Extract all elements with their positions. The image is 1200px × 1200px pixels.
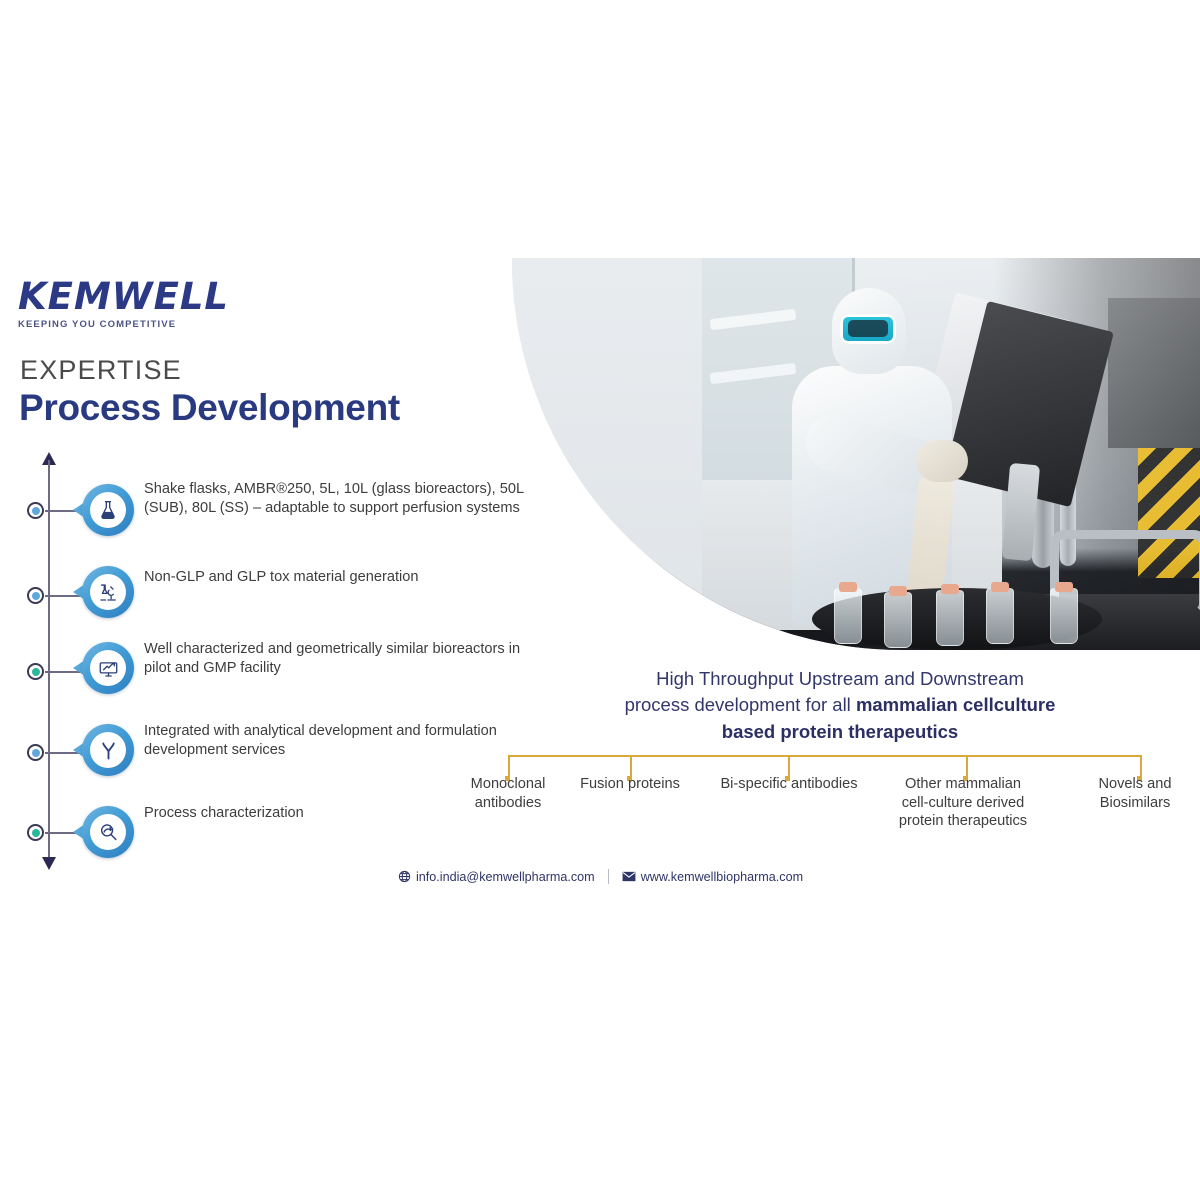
footer-contact: info.india@kemwellpharma.com www.kemwell…: [398, 869, 803, 884]
axis-line: [48, 460, 50, 860]
page-eyebrow: EXPERTISE: [20, 357, 182, 384]
right-heading-line2-bold: mammalian cellculture: [856, 694, 1055, 715]
right-heading: High Throughput Upstream and Downstream …: [560, 666, 1120, 745]
brand-logo: KEMWELL KEEPING YOU COMPETITIVE: [18, 278, 318, 330]
page-title: Process Development: [19, 388, 400, 429]
timeline-node-3: [27, 663, 44, 680]
right-heading-line2-normal: process development for all: [625, 694, 856, 715]
timeline-node-5: [27, 824, 44, 841]
footer-website-item[interactable]: www.kemwellbiopharma.com: [622, 870, 803, 884]
brand-name: KEMWELL: [18, 278, 318, 315]
globe-icon: [398, 870, 416, 883]
category-label: Other mammalian cell-culture derived pro…: [893, 775, 1033, 831]
item-marker: [82, 642, 134, 694]
timeline-node-2: [27, 587, 44, 604]
arrow-down-icon: [42, 857, 56, 870]
item-marker: [82, 806, 134, 858]
footer-website-text: www.kemwellbiopharma.com: [641, 870, 803, 884]
item-label: Shake flasks, AMBR®250, 5L, 10L (glass b…: [144, 480, 534, 519]
category-label: Fusion proteins: [560, 775, 700, 794]
timeline-node-1: [27, 502, 44, 519]
slide-canvas: KEMWELL KEEPING YOU COMPETITIVE EXPERTIS…: [0, 0, 1200, 1200]
item-label: Well characterized and geometrically sim…: [144, 640, 534, 679]
photo-scene: [512, 258, 1200, 650]
cleanroom-photo: [512, 258, 1200, 650]
tree-horizontal-line: [508, 755, 1140, 757]
mail-icon: [622, 871, 641, 882]
timeline-node-4: [27, 744, 44, 761]
category-label: Novels and Biosimilars: [1080, 775, 1190, 812]
footer-email-item[interactable]: info.india@kemwellpharma.com: [398, 870, 595, 884]
category-label: Monoclonal antibodies: [448, 775, 568, 812]
item-label: Non-GLP and GLP tox material generation: [144, 568, 534, 587]
antibody-icon: [90, 732, 126, 768]
right-heading-line1: High Throughput Upstream and Downstream: [656, 668, 1024, 689]
timeline-axis: [31, 452, 67, 870]
item-marker: [82, 566, 134, 618]
microscope-icon: [90, 574, 126, 610]
item-marker: [82, 484, 134, 536]
category-connector-tree: [440, 748, 1200, 776]
item-marker: [82, 724, 134, 776]
flask-icon: [90, 492, 126, 528]
category-label: Bi-specific antibodies: [694, 775, 884, 794]
monitor-analysis-icon: [90, 650, 126, 686]
footer-divider: [608, 869, 609, 884]
photo-mask: [512, 258, 1200, 650]
process-search-icon: [90, 814, 126, 850]
brand-tagline: KEEPING YOU COMPETITIVE: [18, 319, 318, 330]
right-heading-line3-bold: based protein therapeutics: [722, 721, 958, 742]
footer-email-text: info.india@kemwellpharma.com: [416, 870, 595, 884]
